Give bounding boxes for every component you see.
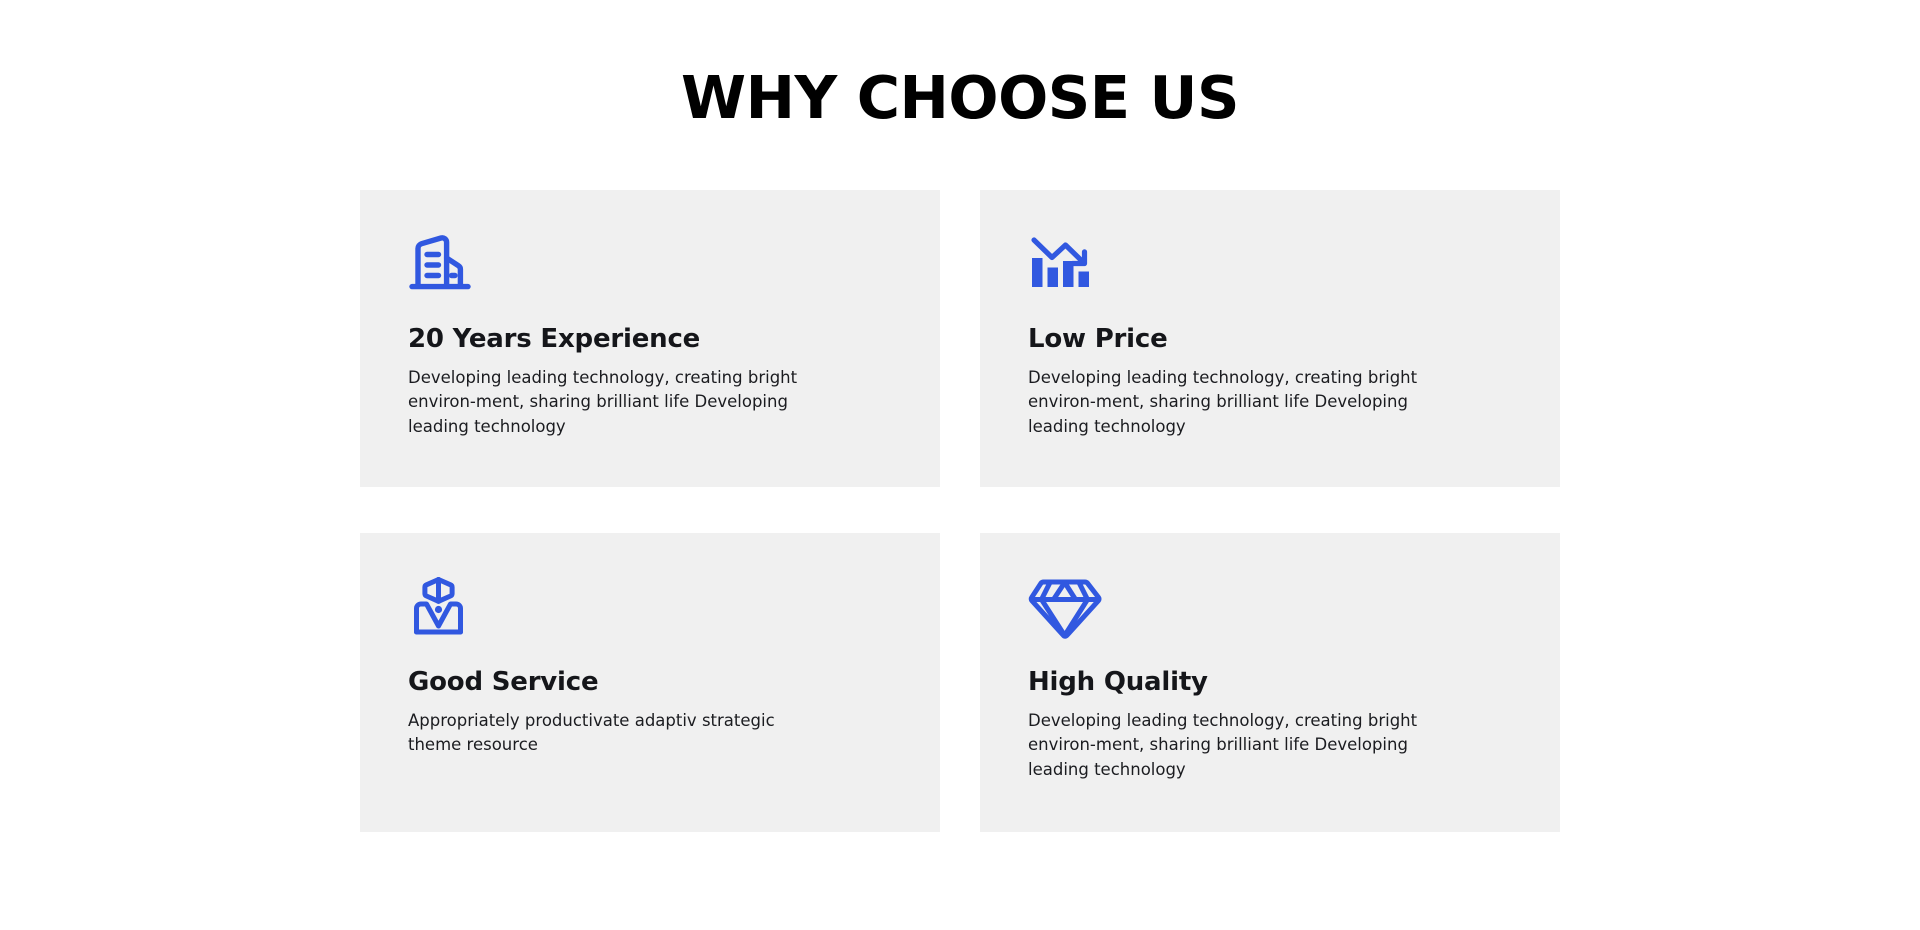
card-description: Developing leading technology, creating … bbox=[1028, 366, 1448, 439]
page-title: WHY CHOOSE US bbox=[0, 66, 1920, 131]
why-choose-us-section: WHY CHOOSE US 20 Years Experience Develo… bbox=[0, 0, 1920, 930]
card-description: Appropriately productivate adaptiv strat… bbox=[408, 709, 828, 758]
bow-tie-suit-icon bbox=[408, 575, 892, 645]
feature-card-grid: 20 Years Experience Developing leading t… bbox=[360, 190, 1560, 832]
feature-card-20-years-experience[interactable]: 20 Years Experience Developing leading t… bbox=[360, 190, 940, 487]
card-title: High Quality bbox=[1028, 667, 1512, 698]
feature-card-low-price[interactable]: Low Price Developing leading technology,… bbox=[980, 190, 1560, 487]
diamond-gem-icon bbox=[1028, 575, 1512, 645]
card-description: Developing leading technology, creating … bbox=[408, 366, 828, 439]
feature-card-good-service[interactable]: Good Service Appropriately productivate … bbox=[360, 533, 940, 832]
card-title: Low Price bbox=[1028, 324, 1512, 355]
declining-bar-chart-icon bbox=[1028, 232, 1512, 302]
card-title: Good Service bbox=[408, 667, 892, 698]
card-description: Developing leading technology, creating … bbox=[1028, 709, 1448, 782]
feature-card-high-quality[interactable]: High Quality Developing leading technolo… bbox=[980, 533, 1560, 832]
card-title: 20 Years Experience bbox=[408, 324, 892, 355]
office-building-icon bbox=[408, 232, 892, 302]
